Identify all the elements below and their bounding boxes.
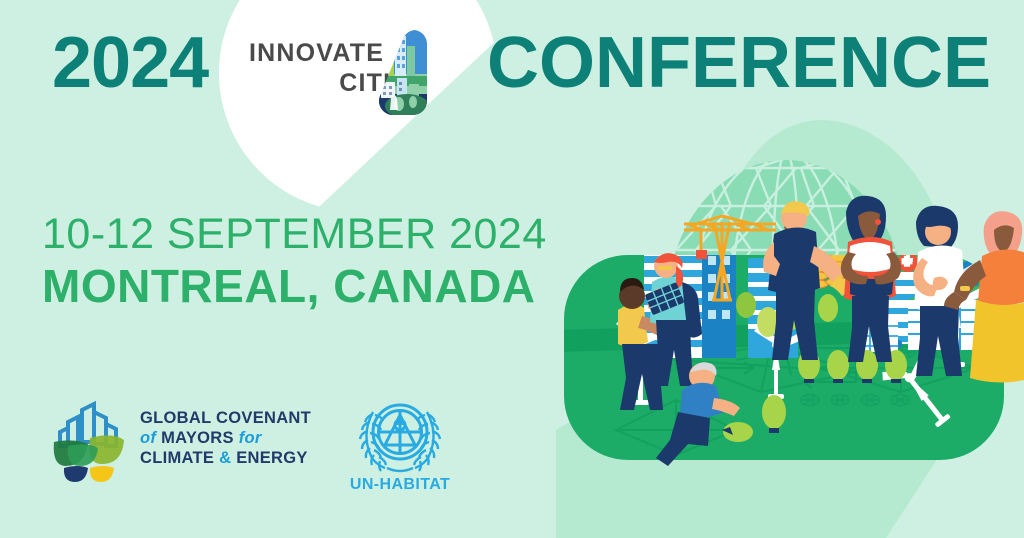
gcom-for: for xyxy=(239,429,262,447)
gcom-climate: CLIMATE xyxy=(140,449,214,467)
event-dates: 10-12 SEPTEMBER 2024 xyxy=(42,213,547,256)
gcom-line-1: GLOBAL COVENANT xyxy=(140,408,355,428)
conference-banner: 2024 CONFERENCE INNOVATE CITIES xyxy=(0,0,1024,538)
gcom-mark-icon xyxy=(48,398,130,482)
un-habitat-label: UN-HABITAT xyxy=(344,476,456,494)
gcom-of: of xyxy=(140,429,156,447)
un-habitat-logo: UN-HABITAT xyxy=(344,398,456,498)
un-habitat-emblem-icon xyxy=(347,398,453,474)
gcom-wordmark: GLOBAL COVENANT of MAYORS for CLIMATE & … xyxy=(140,408,355,468)
gcom-line-3: CLIMATE & ENERGY xyxy=(140,448,355,468)
gcom-mayors: MAYORS xyxy=(161,429,234,447)
gcom-ampersand: & xyxy=(219,449,231,467)
gcom-line-2: of MAYORS for xyxy=(140,428,355,448)
page-title-conference: CONFERENCE xyxy=(487,27,991,99)
page-title-year: 2024 xyxy=(52,27,208,99)
gcom-logo: GLOBAL COVENANT of MAYORS for CLIMATE & … xyxy=(48,398,310,482)
gcom-energy: ENERGY xyxy=(236,449,307,467)
innovate-cities-numeral-icon xyxy=(355,28,427,128)
event-location: MONTREAL, CANADA xyxy=(42,263,536,309)
